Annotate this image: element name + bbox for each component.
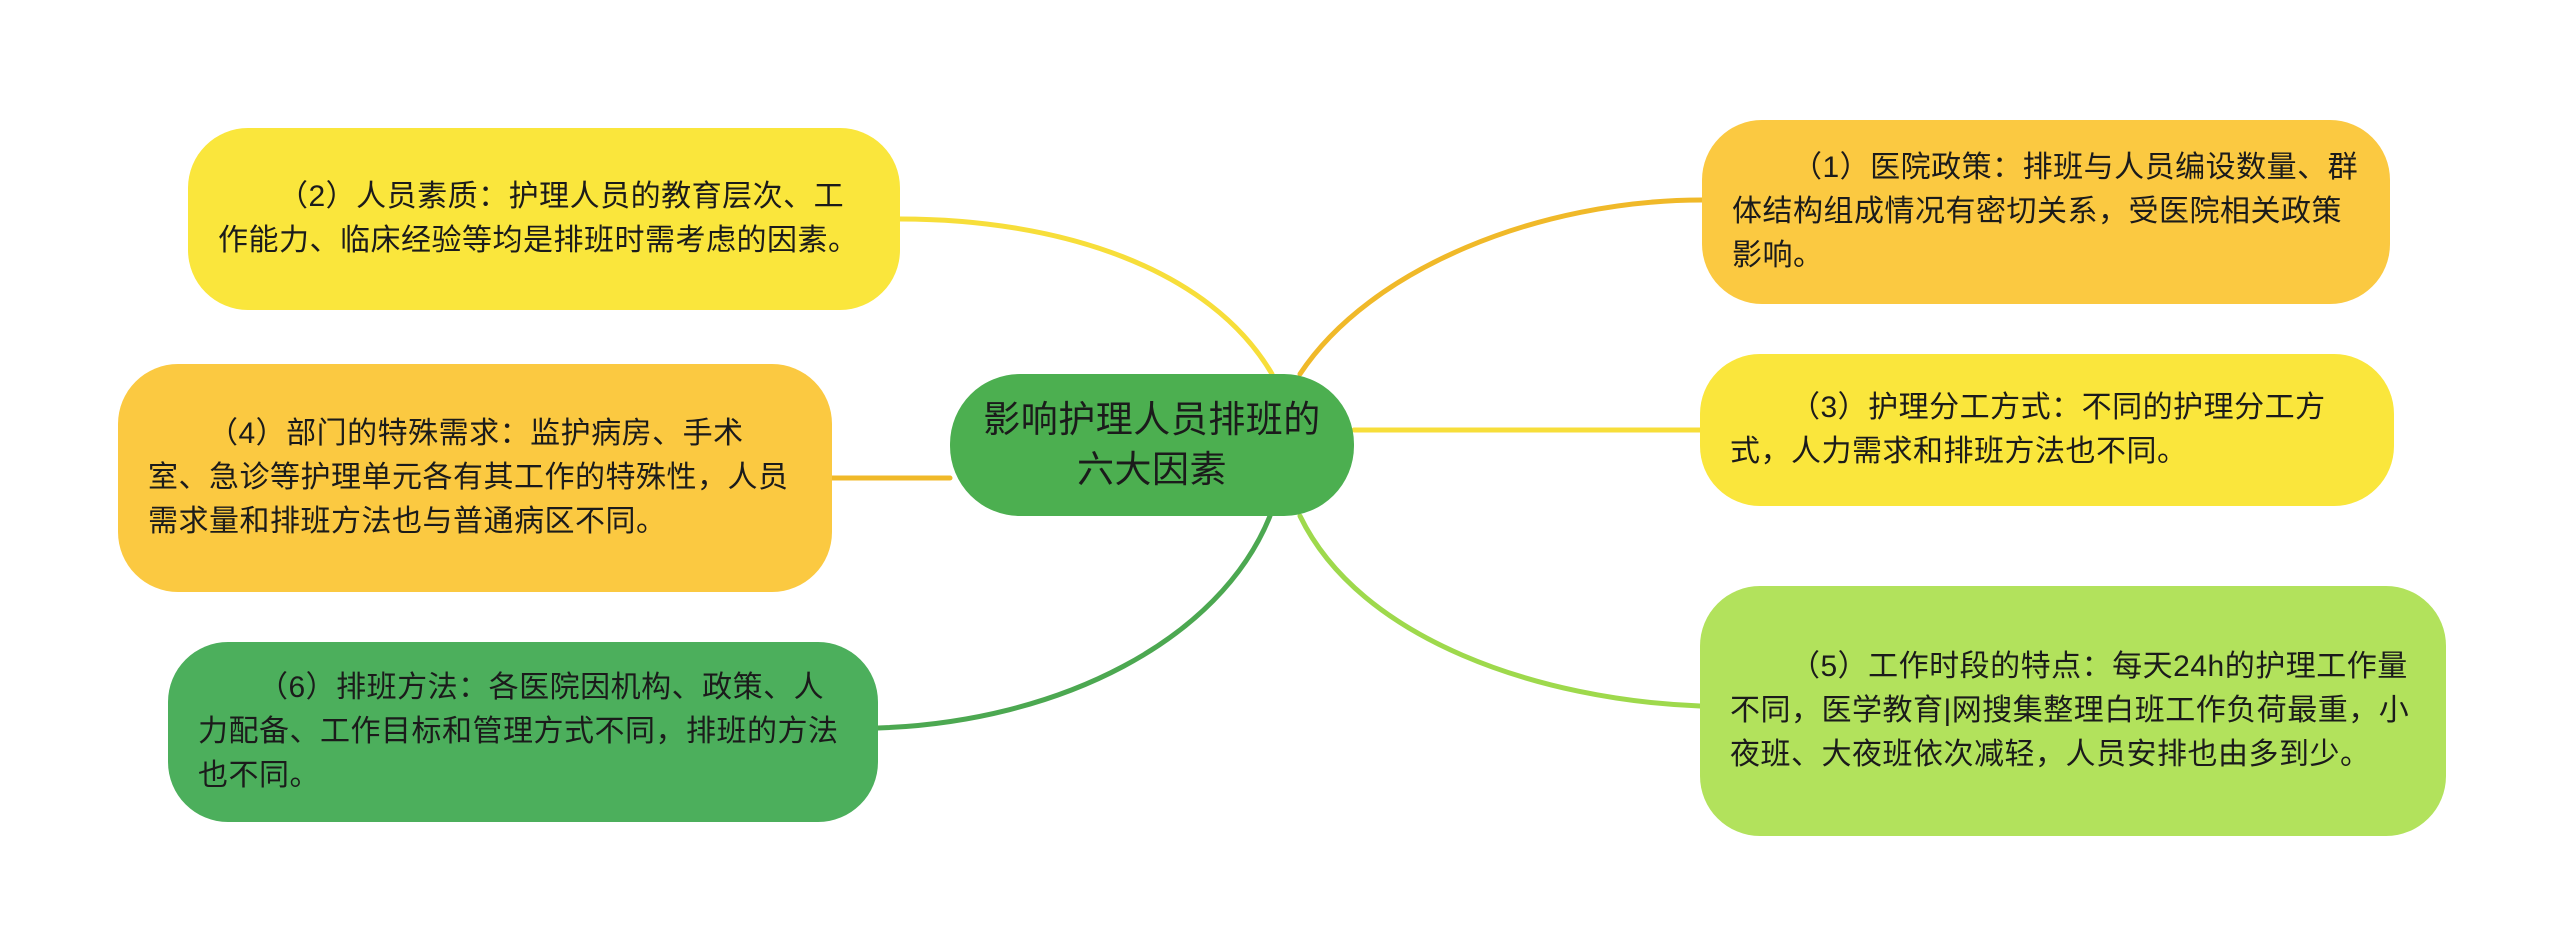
branch-node-5[interactable]: （5）工作时段的特点：每天24h的护理工作量不同，医学教育|网搜集整理白班工作负… xyxy=(1700,586,2446,836)
connector-branch-6 xyxy=(878,516,1270,728)
mindmap-canvas: 影响护理人员排班的六大因素 （2）人员素质：护理人员的教育层次、工作能力、临床经… xyxy=(0,0,2560,943)
branch-node-4[interactable]: （4）部门的特殊需求：监护病房、手术室、急诊等护理单元各有其工作的特殊性，人员需… xyxy=(118,364,832,592)
connector-branch-5 xyxy=(1300,516,1700,706)
branch-node-6-label: （6）排班方法：各医院因机构、政策、人力配备、工作目标和管理方式不同，排班的方法… xyxy=(198,666,848,797)
branch-node-1[interactable]: （1）医院政策：排班与人员编设数量、群体结构组成情况有密切关系，受医院相关政策影… xyxy=(1702,120,2390,304)
branch-node-5-label: （5）工作时段的特点：每天24h的护理工作量不同，医学教育|网搜集整理白班工作负… xyxy=(1730,645,2416,776)
branch-node-4-label: （4）部门的特殊需求：监护病房、手术室、急诊等护理单元各有其工作的特殊性，人员需… xyxy=(148,412,802,543)
connector-branch-1 xyxy=(1300,200,1702,374)
branch-node-2[interactable]: （2）人员素质：护理人员的教育层次、工作能力、临床经验等均是排班时需考虑的因素。 xyxy=(188,128,900,310)
branch-node-1-label: （1）医院政策：排班与人员编设数量、群体结构组成情况有密切关系，受医院相关政策影… xyxy=(1732,146,2360,277)
connector-branch-2 xyxy=(900,219,1272,374)
branch-node-6[interactable]: （6）排班方法：各医院因机构、政策、人力配备、工作目标和管理方式不同，排班的方法… xyxy=(168,642,878,822)
central-node[interactable]: 影响护理人员排班的六大因素 xyxy=(950,374,1354,516)
branch-node-3-label: （3）护理分工方式：不同的护理分工方式，人力需求和排班方法也不同。 xyxy=(1730,386,2364,474)
branch-node-2-label: （2）人员素质：护理人员的教育层次、工作能力、临床经验等均是排班时需考虑的因素。 xyxy=(218,175,870,263)
central-node-label: 影响护理人员排班的六大因素 xyxy=(980,395,1324,496)
branch-node-3[interactable]: （3）护理分工方式：不同的护理分工方式，人力需求和排班方法也不同。 xyxy=(1700,354,2394,506)
